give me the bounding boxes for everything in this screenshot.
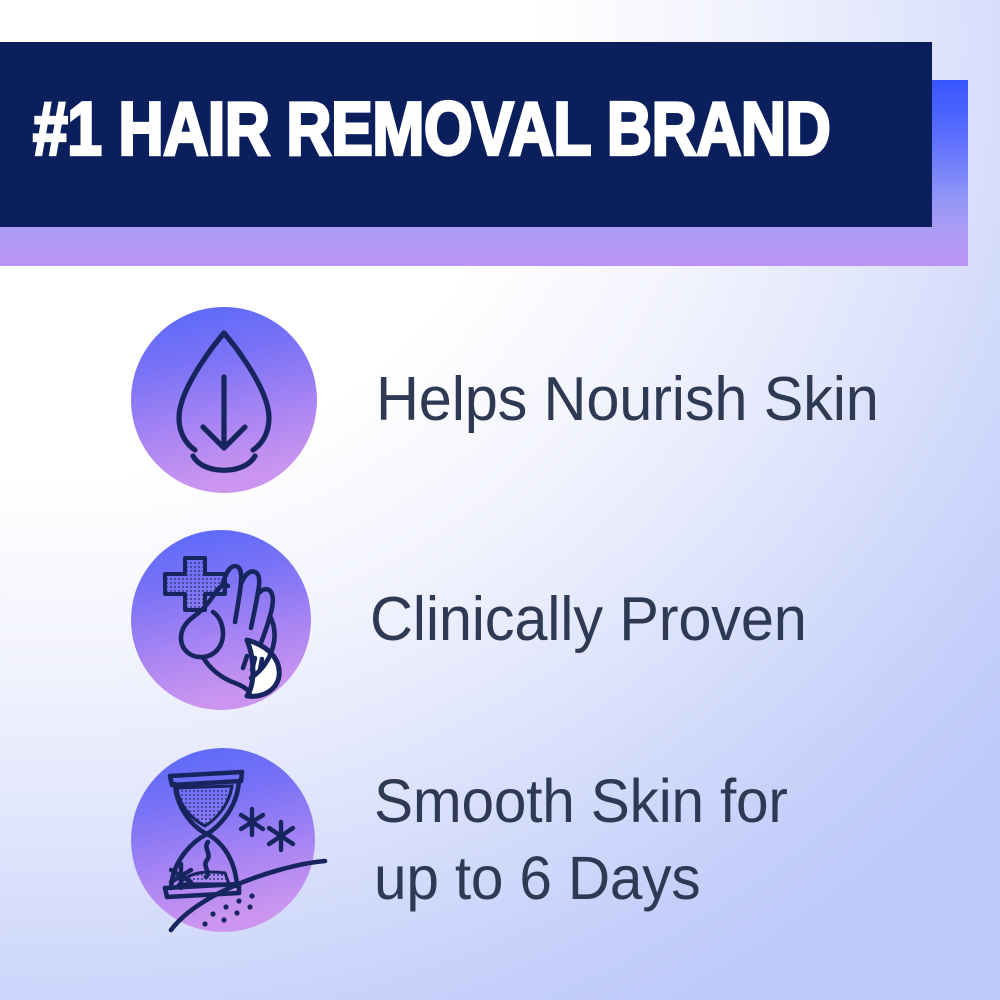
promo-poster: #1 HAIR REMOVAL BRAND [0, 0, 1000, 1000]
page-title: #1 HAIR REMOVAL BRAND [33, 92, 830, 167]
benefit-label: Clinically Proven [370, 582, 807, 658]
droplet-arrow-icon [129, 305, 319, 495]
benefit-label: Smooth Skin for up to 6 Days [374, 763, 788, 917]
benefit-icon-wrap [129, 305, 319, 495]
benefit-row: Helps Nourish Skin [0, 307, 1000, 493]
benefit-icon-wrap [129, 746, 317, 934]
hourglass-sparkle-icon [129, 746, 317, 934]
benefit-icon-wrap [129, 528, 313, 712]
benefit-label: Helps Nourish Skin [376, 362, 879, 438]
benefit-row: Clinically Proven [0, 530, 1000, 710]
header-banner: #1 HAIR REMOVAL BRAND [0, 42, 1000, 266]
benefit-row: Smooth Skin for up to 6 Days [0, 748, 1000, 932]
ok-hand-medical-cross-icon [129, 528, 313, 712]
